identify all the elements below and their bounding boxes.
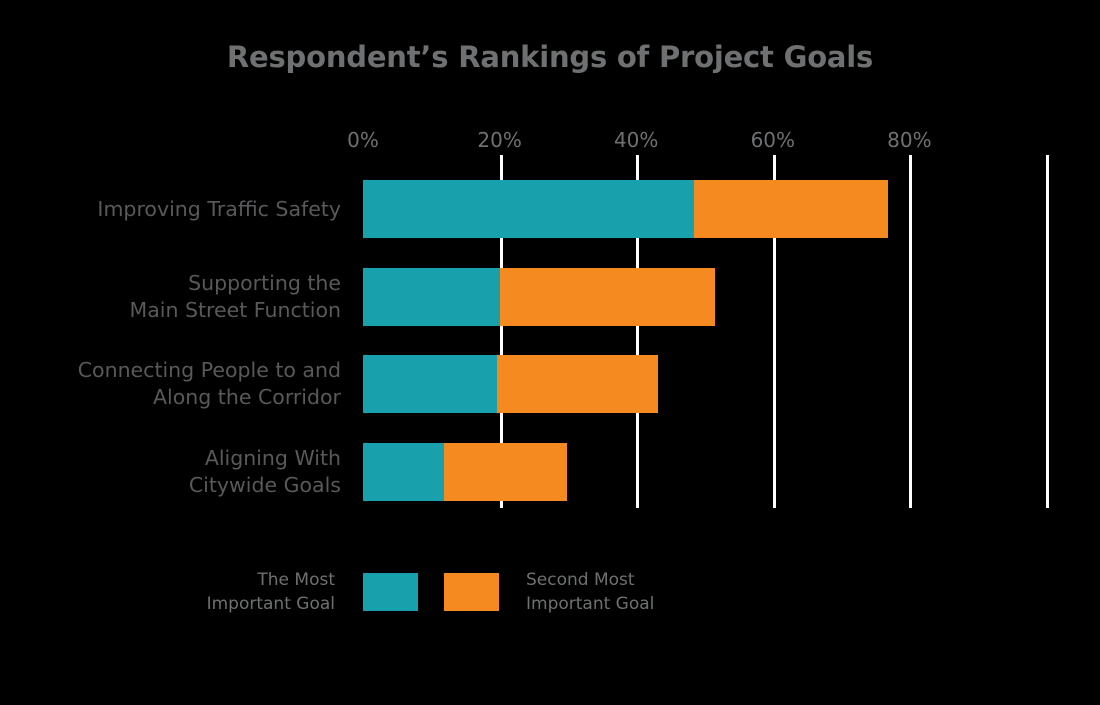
category-label-line: Along the Corridor [21, 384, 341, 411]
legend-label-line: Second Most [526, 568, 786, 592]
x-tick-label-80: 80% [887, 128, 931, 152]
gridline-80 [909, 155, 912, 508]
chart-canvas: Respondent’s Rankings of Project Goals 0… [0, 0, 1100, 705]
category-label-line: Improving Traffic Safety [21, 196, 341, 223]
bar-segment[interactable] [363, 180, 694, 238]
bar-segment[interactable] [500, 268, 715, 326]
plot-area [363, 155, 1046, 508]
bar-segment[interactable] [363, 268, 500, 326]
category-label-line: Main Street Function [21, 297, 341, 324]
x-tick-label-20: 20% [477, 128, 521, 152]
gridline-100 [1046, 155, 1049, 508]
category-label: Supporting theMain Street Function [21, 270, 341, 324]
chart-title: Respondent’s Rankings of Project Goals [0, 40, 1100, 74]
category-label: Aligning WithCitywide Goals [21, 445, 341, 499]
bar-segment[interactable] [363, 443, 444, 501]
bar-row[interactable] [363, 355, 658, 413]
category-label-line: Connecting People to and [21, 357, 341, 384]
legend-label-line: The Most [120, 568, 335, 592]
bar-segment[interactable] [444, 443, 567, 501]
legend-swatch-most-important [363, 573, 418, 611]
x-tick-label-0: 0% [347, 128, 379, 152]
bar-segment[interactable] [694, 180, 888, 238]
category-label: Improving Traffic Safety [21, 196, 341, 223]
bar-segment[interactable] [497, 355, 658, 413]
legend-label-most-important: The MostImportant Goal [120, 568, 335, 616]
legend-label-line: Important Goal [120, 592, 335, 616]
chart-legend: The MostImportant Goal Second MostImport… [0, 565, 1100, 625]
category-label-line: Aligning With [21, 445, 341, 472]
x-tick-label-60: 60% [751, 128, 795, 152]
legend-label-line: Important Goal [526, 592, 786, 616]
bar-segment[interactable] [363, 355, 497, 413]
legend-swatch-second-most-important [444, 573, 499, 611]
bar-row[interactable] [363, 180, 888, 238]
category-label-line: Citywide Goals [21, 472, 341, 499]
category-label-line: Supporting the [21, 270, 341, 297]
bar-row[interactable] [363, 443, 567, 501]
category-label: Connecting People to andAlong the Corrid… [21, 357, 341, 411]
bar-row[interactable] [363, 268, 715, 326]
x-tick-label-40: 40% [614, 128, 658, 152]
legend-label-second-most-important: Second MostImportant Goal [526, 568, 786, 616]
